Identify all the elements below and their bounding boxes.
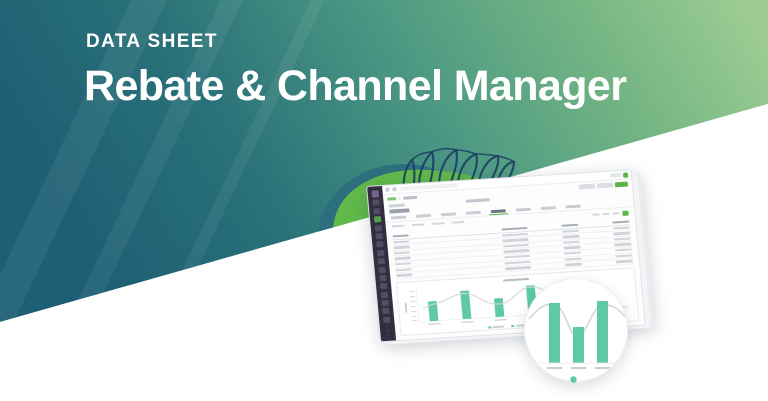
- cell-period: [393, 240, 409, 243]
- account-menu[interactable]: [610, 173, 621, 178]
- meta-label: [389, 204, 405, 207]
- calendar-icon[interactable]: [378, 258, 386, 264]
- eyebrow-label: DATA SHEET: [86, 32, 218, 51]
- tab-payment-options[interactable]: [466, 210, 481, 214]
- zoom-callout-pointer: [570, 376, 577, 383]
- legend-swatch: [511, 325, 514, 327]
- tab-claims[interactable]: [566, 204, 581, 208]
- legend-label: [493, 326, 505, 329]
- cell-rebate: [564, 257, 581, 260]
- cell-accrual: [615, 248, 632, 251]
- zoom-callout-bars: [549, 301, 608, 363]
- cell-period: [394, 251, 410, 254]
- cell-rebate: [562, 229, 579, 232]
- breadcrumb-current: [403, 195, 417, 199]
- column-volume: [501, 227, 527, 231]
- cell-rebate: [564, 252, 581, 255]
- cell-rebate: [565, 263, 582, 266]
- period-dropdown[interactable]: [602, 213, 609, 216]
- search-icon[interactable]: [392, 187, 396, 191]
- cell-period: [395, 262, 411, 265]
- meta-value: [466, 198, 490, 202]
- cell-accrual: [613, 232, 630, 235]
- grid-icon[interactable]: [378, 266, 386, 272]
- subtab-agreements[interactable]: [432, 222, 445, 225]
- trend-icon[interactable]: [375, 225, 383, 231]
- cell-rebate: [563, 241, 580, 244]
- cell-period: [394, 246, 410, 249]
- tab-line-items[interactable]: [416, 213, 431, 217]
- cell-volume: [502, 238, 528, 242]
- cell-volume: [503, 249, 529, 253]
- doc-icon[interactable]: [380, 283, 388, 289]
- subtab-orders[interactable]: [452, 220, 465, 223]
- sidebar-dot: [387, 329, 389, 331]
- tab-details[interactable]: [391, 215, 406, 219]
- branch-icon[interactable]: [375, 233, 383, 239]
- settings-icon[interactable]: [382, 308, 390, 314]
- tune-icon[interactable]: [376, 241, 384, 247]
- cell-rebate: [562, 235, 579, 238]
- bell-icon[interactable]: [381, 300, 389, 306]
- tab-notes[interactable]: [516, 207, 531, 211]
- banner-canvas: DATA SHEET Rebate & Channel Manager: [0, 0, 768, 401]
- home-icon[interactable]: [372, 200, 380, 206]
- sidebar-dot: [387, 334, 389, 336]
- sidebar-dot: [386, 325, 388, 327]
- subtab-accruals[interactable]: [412, 223, 425, 226]
- column-accrual: [612, 221, 629, 224]
- cancel-button[interactable]: [579, 183, 595, 189]
- tab-conditions[interactable]: [441, 212, 456, 216]
- legend-rebate-volume: [488, 326, 505, 329]
- users-icon[interactable]: [373, 208, 381, 214]
- submit-button[interactable]: [615, 181, 628, 187]
- page-title: Rebate & Channel Manager: [84, 62, 626, 111]
- help-icon[interactable]: [383, 317, 391, 323]
- chart-zoom-callout: [524, 278, 628, 382]
- breadcrumb-separator: [399, 196, 400, 199]
- cell-accrual: [613, 226, 630, 229]
- rebate-icon[interactable]: [374, 216, 382, 222]
- column-period: [393, 234, 409, 237]
- logo-icon: [371, 190, 379, 197]
- cell-volume: [504, 260, 530, 264]
- currency-dropdown[interactable]: [612, 212, 619, 215]
- hamburger-icon[interactable]: [385, 188, 389, 192]
- cell-period: [396, 268, 412, 271]
- subtab-performance[interactable]: [392, 224, 405, 227]
- cell-accrual: [615, 254, 632, 257]
- apply-filter-button[interactable]: [622, 210, 628, 215]
- legend-swatch: [488, 327, 491, 329]
- flag-icon[interactable]: [381, 291, 389, 297]
- save-button[interactable]: [597, 182, 613, 188]
- cell-volume: [504, 255, 530, 259]
- breadcrumb-home[interactable]: [387, 197, 396, 201]
- cell-period: [395, 257, 411, 260]
- user-avatar-icon[interactable]: [623, 172, 628, 177]
- zoom-callout-plot: [525, 279, 628, 382]
- target-icon[interactable]: [379, 275, 387, 281]
- cell-rebate: [563, 246, 580, 249]
- layers-icon[interactable]: [377, 250, 385, 256]
- cell-accrual: [616, 260, 633, 263]
- filter-controls: [592, 210, 628, 217]
- cell-volume: [502, 233, 528, 237]
- cell-period: [396, 273, 412, 276]
- topbar-actions: [610, 172, 628, 178]
- cell-volume: [505, 266, 531, 270]
- filter-dropdown[interactable]: [592, 213, 599, 216]
- cell-accrual: [614, 237, 631, 240]
- tab-summary[interactable]: [491, 209, 506, 213]
- tab-organization-unit[interactable]: [541, 206, 556, 210]
- column-rebate: [561, 224, 578, 227]
- cell-volume: [503, 244, 529, 248]
- cell-accrual: [614, 243, 631, 246]
